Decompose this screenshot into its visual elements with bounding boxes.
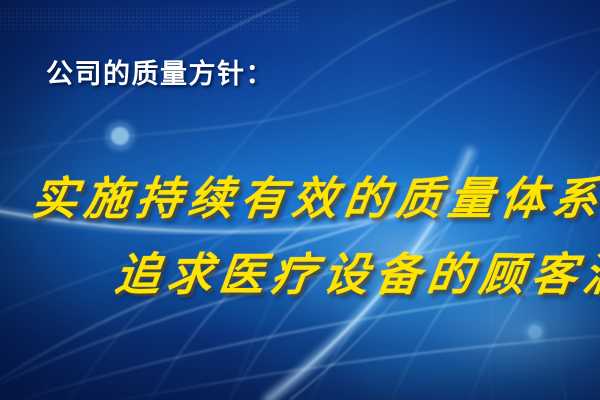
network-node-dot-right <box>524 321 546 343</box>
banner-image: 公司的质量方针： 实施持续有效的质量体系 追求医疗设备的顾客满意 <box>0 0 600 400</box>
network-node-dot <box>105 121 135 151</box>
page-title: 公司的质量方针： <box>46 52 274 91</box>
slogan-line-1: 实施持续有效的质量体系 <box>29 162 600 227</box>
slogan-line-2: 追求医疗设备的顾客满意 <box>112 238 600 303</box>
